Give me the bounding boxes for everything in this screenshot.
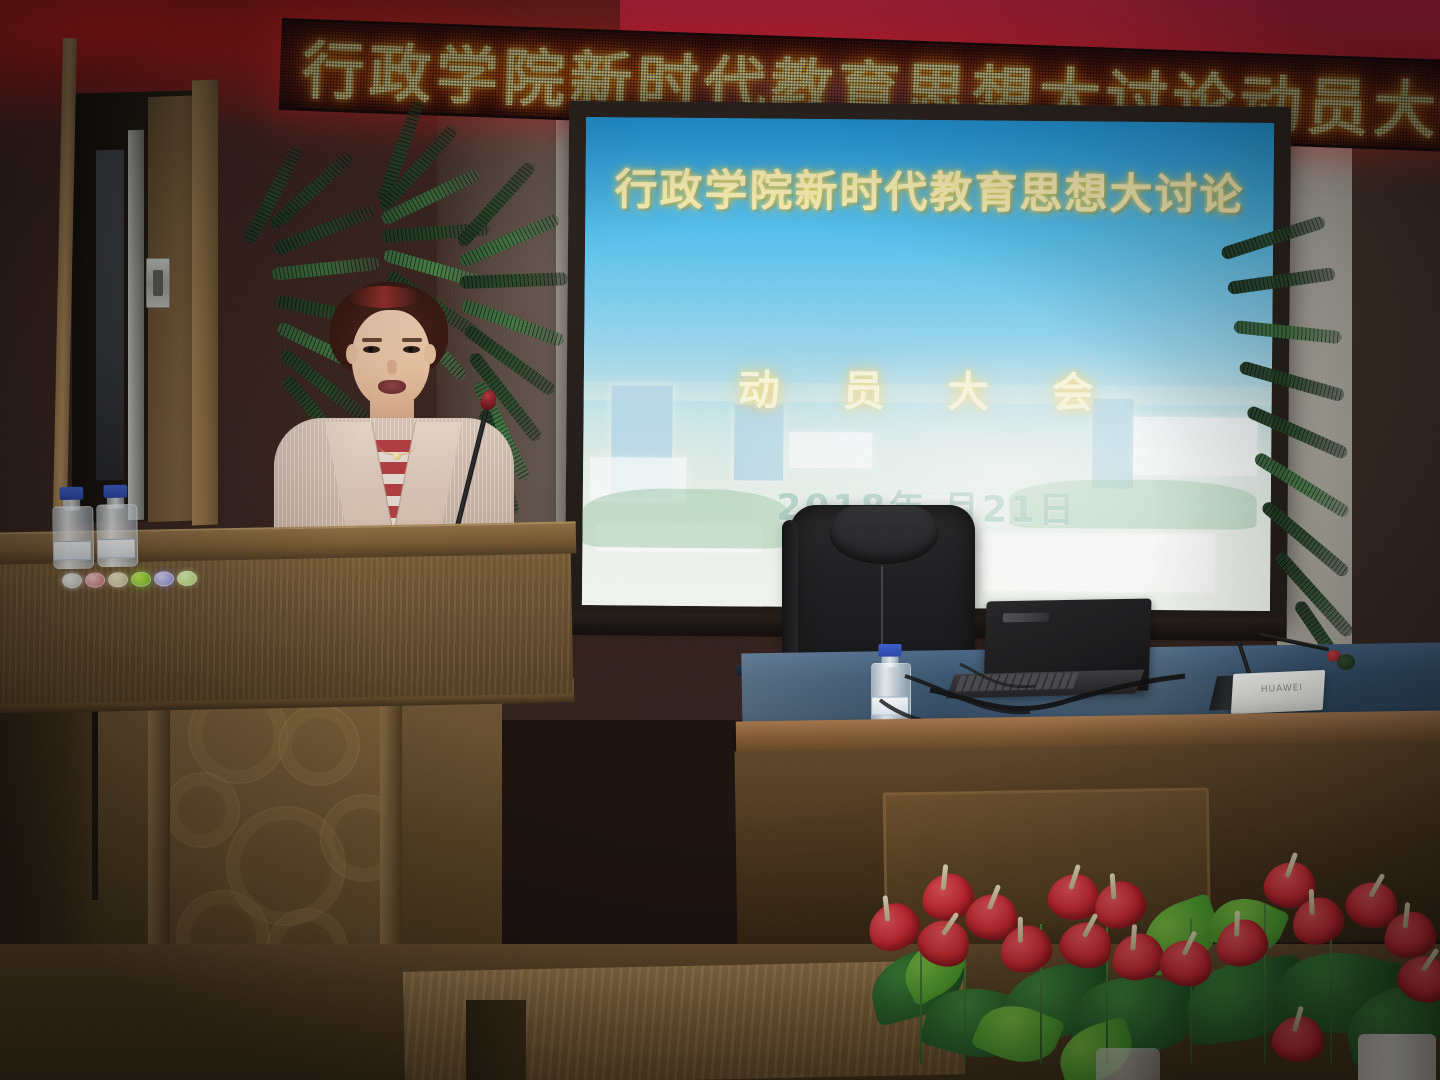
podium-water-bottle-2[interactable] <box>96 487 136 568</box>
speaker-mouth <box>378 380 406 394</box>
flower-vase <box>1358 1034 1436 1080</box>
door-edge <box>128 130 144 521</box>
speaker-person <box>252 282 552 552</box>
laptop-keyboard[interactable] <box>955 672 1079 691</box>
speaker-brow-right <box>402 338 422 342</box>
conference-hall-photo: 行政学院新时代教育思想大讨论动员大会 行政学院新时代教育思想大讨论 动 员 大 … <box>0 0 1440 1080</box>
speaker-eye-right <box>403 346 420 353</box>
podium-control-button-1[interactable] <box>62 573 82 588</box>
door-jamb <box>192 80 218 526</box>
door-hinge-icon <box>146 258 170 308</box>
podium-control-button-3[interactable] <box>108 572 128 587</box>
podium-control-button-4[interactable] <box>131 572 151 587</box>
chair-headrest <box>830 506 938 564</box>
speaker-nose <box>387 360 397 374</box>
speaker-hair-highlight <box>348 286 420 308</box>
laptop-brand-logo-icon <box>1003 613 1049 623</box>
slide-building <box>789 432 872 469</box>
speaker-pendant <box>393 452 401 460</box>
podium-control-button-5[interactable] <box>154 571 174 586</box>
speaker-ear-left <box>346 344 358 364</box>
speaker-eye-left <box>363 346 380 353</box>
speaker-brow-left <box>362 338 382 342</box>
chair-side-bolster <box>782 520 798 670</box>
podium-control-button-row[interactable] <box>62 571 197 589</box>
speaker-ear-right <box>424 344 436 364</box>
flower-vase <box>1096 1048 1160 1080</box>
podium-control-button-6[interactable] <box>177 571 197 586</box>
stage-step-shadow <box>466 1000 526 1080</box>
podium-water-bottle-1[interactable] <box>52 489 92 570</box>
slide-title: 行政学院新时代教育思想大讨论 <box>585 155 1274 223</box>
door-glass-panel <box>96 150 124 481</box>
slide-building <box>1133 417 1257 476</box>
slide-subtitle: 动 员 大 会 <box>584 355 1273 422</box>
table-water-bottle[interactable] <box>871 646 909 724</box>
anthurium-bloom <box>862 897 926 957</box>
conference-mic-windscreen-icon <box>1337 654 1355 670</box>
podium-control-button-2[interactable] <box>85 572 105 587</box>
flower-arrangement <box>860 848 1440 1080</box>
slide-building <box>981 532 1215 592</box>
